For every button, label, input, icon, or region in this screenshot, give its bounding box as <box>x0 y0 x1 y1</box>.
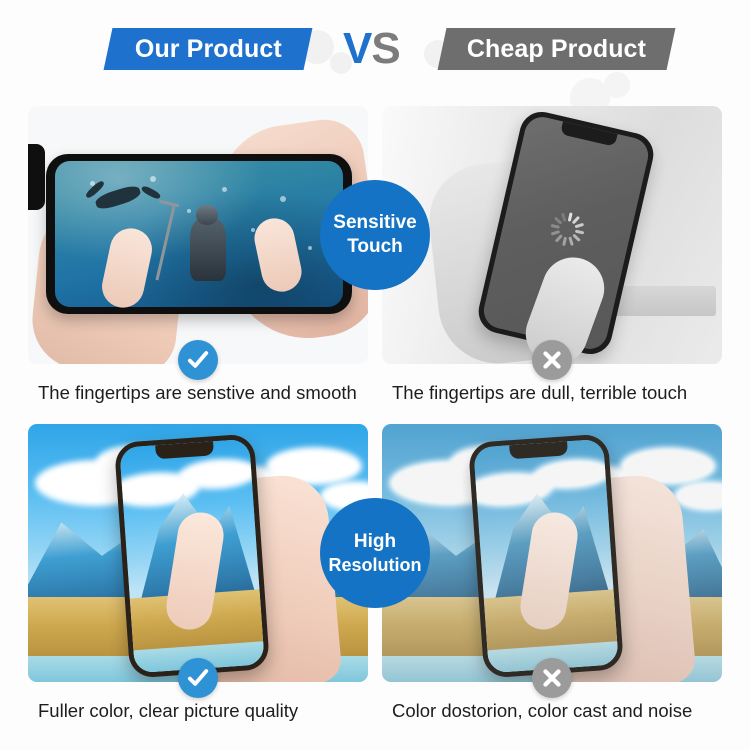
cross-icon <box>539 665 565 691</box>
loading-spinner-icon <box>547 208 588 249</box>
caption-high-resolution-bad: Color dostorion, color cast and noise <box>392 700 692 722</box>
vs-v-letter: V <box>343 24 371 73</box>
feature-line-2: Touch <box>347 235 403 259</box>
comparison-header: Our Product VS Cheap Product <box>0 28 750 82</box>
phone-device-landscape <box>46 154 352 314</box>
caption-sensitive-touch-good: The fingertips are senstive and smooth <box>38 382 357 404</box>
cross-badge-sensitive-touch <box>532 340 572 380</box>
feature-line-2: Resolution <box>329 554 422 577</box>
cross-icon <box>539 347 565 373</box>
vs-label: VS <box>343 24 400 74</box>
check-icon <box>185 665 211 691</box>
our-product-banner: Our Product <box>104 28 313 70</box>
panel-sensitive-touch-good <box>28 106 368 364</box>
scene-mountain-vivid <box>28 424 368 682</box>
soldier-sprite <box>190 219 226 281</box>
caption-sensitive-touch-bad: The fingertips are dull, terrible touch <box>392 382 687 404</box>
check-icon <box>185 347 211 373</box>
our-product-label: Our Product <box>135 35 282 64</box>
cheap-product-banner: Cheap Product <box>438 28 676 70</box>
cross-badge-high-resolution <box>532 658 572 698</box>
panel-high-resolution-bad <box>382 424 722 682</box>
feature-badge-sensitive-touch: Sensitive Touch <box>320 180 430 290</box>
vs-s-letter: S <box>371 24 399 73</box>
caption-high-resolution-good: Fuller color, clear picture quality <box>38 700 298 722</box>
phone-screen-game <box>55 161 343 307</box>
panel-sensitive-touch-bad <box>382 106 722 364</box>
scene-gaming-phone <box>28 106 368 364</box>
feature-line-1: Sensitive <box>333 211 416 235</box>
check-badge-sensitive-touch <box>178 340 218 380</box>
cheap-product-label: Cheap Product <box>467 35 646 64</box>
product-comparison-page: Our Product VS Cheap Product <box>0 0 750 750</box>
trident-icon <box>156 205 176 280</box>
feature-badge-high-resolution: High Resolution <box>320 498 430 608</box>
panel-high-resolution-good <box>28 424 368 682</box>
scene-mountain-washed-out <box>382 424 722 682</box>
check-badge-high-resolution <box>178 658 218 698</box>
scene-loading-phone <box>382 106 722 364</box>
phone-notch <box>28 144 45 210</box>
feature-line-1: High <box>354 530 396 554</box>
